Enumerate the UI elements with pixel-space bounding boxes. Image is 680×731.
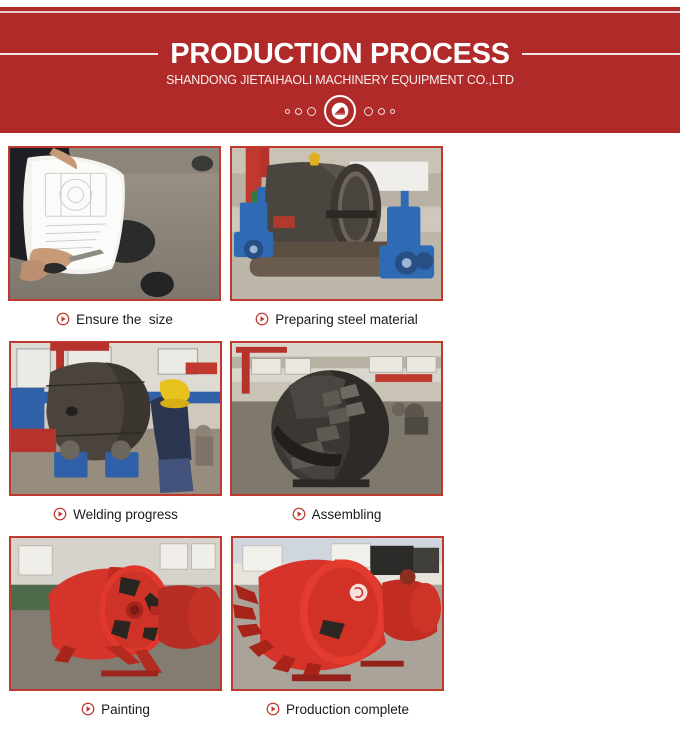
process-step-card: Painting	[9, 536, 230, 727]
step-caption-text: Preparing steel material	[275, 312, 418, 327]
step-photo-welding-progress[interactable]	[9, 341, 222, 496]
ornament-dot-small-left	[285, 109, 290, 114]
step-caption-text: Assembling	[312, 507, 382, 522]
step-photo-preparing-steel-material[interactable]	[230, 146, 443, 301]
step-caption-text: Production complete	[286, 702, 409, 717]
step-photo-assembling[interactable]	[230, 341, 443, 496]
ornament-dot-medium-left	[295, 108, 302, 115]
process-step-card: Welding progress	[9, 341, 230, 532]
step-caption: Welding progress	[9, 496, 222, 532]
page-title: PRODUCTION PROCESS	[170, 38, 509, 71]
play-circle-icon	[255, 312, 269, 326]
step-caption-text: Welding progress	[73, 507, 178, 522]
step-caption-text: Painting	[101, 702, 150, 717]
process-step-card: Ensure the size	[8, 146, 229, 337]
company-subtitle: SHANDONG JIETAIHAOLI MACHINERY EQUIPMENT…	[0, 73, 680, 87]
process-step-card: Preparing steel material	[230, 146, 451, 337]
title-rule-left	[0, 53, 158, 55]
step-photo-painting[interactable]	[9, 536, 222, 691]
title-row: PRODUCTION PROCESS	[0, 37, 680, 71]
ornament-dot-medium-right	[378, 108, 385, 115]
process-step-card: Assembling	[230, 341, 451, 532]
play-circle-icon	[266, 702, 280, 716]
play-circle-icon	[292, 507, 306, 521]
banner-top-rule	[0, 11, 680, 13]
logo-row	[0, 95, 680, 127]
step-caption-text: Ensure the size	[76, 312, 173, 327]
step-photo-production-complete[interactable]	[231, 536, 444, 691]
step-caption: Ensure the size	[8, 301, 221, 337]
process-step-card: Production complete	[231, 536, 452, 727]
production-process-grid: Ensure the size	[8, 146, 672, 731]
ornament-dot-large-right	[364, 107, 373, 116]
step-caption: Assembling	[230, 496, 443, 532]
company-badge-icon	[324, 95, 356, 127]
page-header-banner: PRODUCTION PROCESS SHANDONG JIETAIHAOLI …	[0, 7, 680, 133]
step-caption: Production complete	[231, 691, 444, 727]
step-caption: Painting	[9, 691, 222, 727]
title-rule-right	[522, 53, 680, 55]
play-circle-icon	[53, 507, 67, 521]
ornament-dot-small-right	[390, 109, 395, 114]
play-circle-icon	[81, 702, 95, 716]
step-photo-ensure-the-size[interactable]	[8, 146, 221, 301]
step-caption: Preparing steel material	[230, 301, 443, 337]
ornament-dot-large-left	[307, 107, 316, 116]
play-circle-icon	[56, 312, 70, 326]
